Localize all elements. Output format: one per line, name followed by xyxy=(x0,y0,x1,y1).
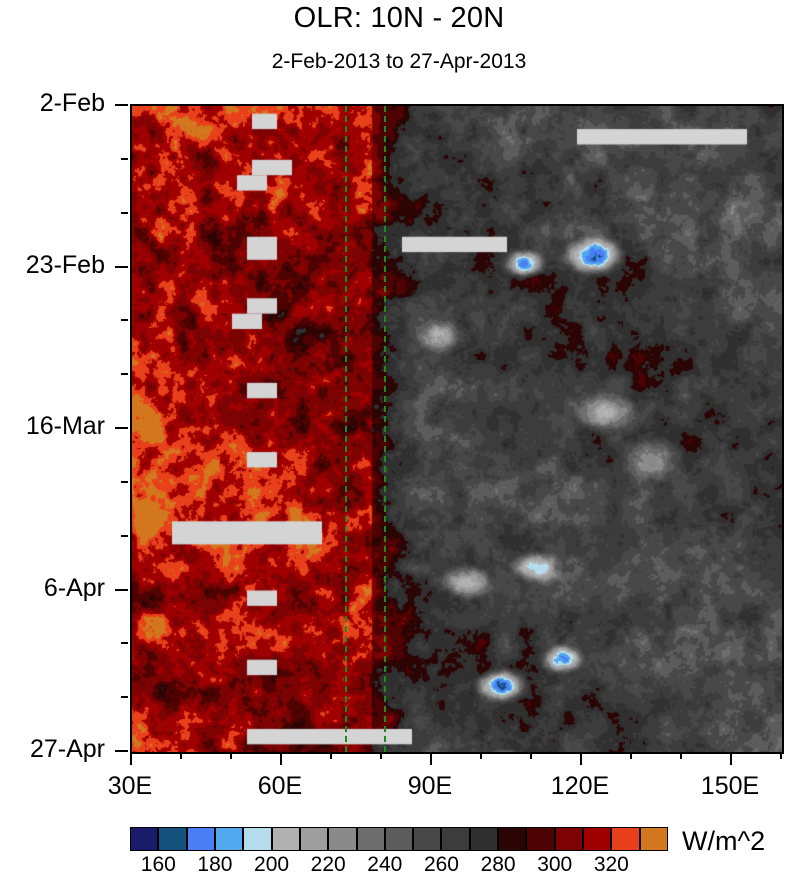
colorbar-swatch xyxy=(215,827,243,851)
y-tick-minor xyxy=(121,481,128,483)
x-tick-major xyxy=(280,752,282,765)
y-tick-minor xyxy=(121,212,128,214)
colorbar-swatch xyxy=(187,827,215,851)
x-axis-tick-label: 90E xyxy=(370,772,490,801)
colorbar-tick-label: 320 xyxy=(571,853,651,877)
colorbar-swatch xyxy=(583,827,611,851)
y-tick-major xyxy=(115,427,128,429)
x-tick-major xyxy=(130,752,132,765)
x-tick-minor xyxy=(780,752,782,759)
y-axis-tick-label: 16-Mar xyxy=(0,412,105,441)
colorbar-swatch xyxy=(328,827,356,851)
colorbar-swatch xyxy=(526,827,554,851)
colorbar-swatch xyxy=(441,827,469,851)
x-axis-tick-label: 120E xyxy=(520,772,640,801)
y-tick-major xyxy=(115,266,128,268)
colorbar-swatch xyxy=(272,827,300,851)
x-tick-major xyxy=(430,752,432,765)
colorbar-swatch xyxy=(130,827,158,851)
colorbar-swatch xyxy=(498,827,526,851)
vertical-dashed-annotation-line xyxy=(345,106,347,752)
x-tick-minor xyxy=(680,752,682,759)
x-tick-minor xyxy=(630,752,632,759)
colorbar-swatch xyxy=(385,827,413,851)
y-tick-major xyxy=(115,104,128,106)
y-tick-major xyxy=(115,589,128,591)
colorbar-swatch xyxy=(555,827,583,851)
colorbar-swatch xyxy=(357,827,385,851)
colorbar-units-label: W/m^2 xyxy=(682,826,765,857)
y-axis-tick-label: 2-Feb xyxy=(0,89,105,118)
plot-area xyxy=(130,104,784,754)
y-tick-minor xyxy=(121,696,128,698)
x-tick-minor xyxy=(480,752,482,759)
x-tick-minor xyxy=(380,752,382,759)
x-axis-tick-label: 150E xyxy=(670,772,790,801)
colorbar-swatch xyxy=(640,827,668,851)
page-title: OLR: 10N - 20N xyxy=(0,2,798,35)
y-tick-minor xyxy=(121,535,128,537)
vertical-dashed-annotation-line xyxy=(384,106,386,752)
y-axis-tick-label: 23-Feb xyxy=(0,251,105,280)
subtitle: 2-Feb-2013 to 27-Apr-2013 xyxy=(0,50,798,74)
olr-heatmap-canvas xyxy=(132,106,782,752)
y-tick-minor xyxy=(121,373,128,375)
x-tick-major xyxy=(580,752,582,765)
y-axis-tick-label: 27-Apr xyxy=(0,735,105,764)
x-tick-minor xyxy=(530,752,532,759)
colorbar-swatch xyxy=(413,827,441,851)
colorbar-swatch xyxy=(470,827,498,851)
colorbar-swatch xyxy=(611,827,639,851)
y-tick-minor xyxy=(121,158,128,160)
colorbar-swatch xyxy=(243,827,271,851)
x-tick-minor xyxy=(180,752,182,759)
x-tick-minor xyxy=(330,752,332,759)
y-tick-major xyxy=(115,750,128,752)
colorbar-swatch xyxy=(300,827,328,851)
y-tick-minor xyxy=(121,642,128,644)
colorbar: 160180200220240260280300320 xyxy=(130,827,668,851)
x-tick-minor xyxy=(230,752,232,759)
x-axis-tick-label: 60E xyxy=(220,772,340,801)
hovmoller-figure: OLR: 10N - 20N 2-Feb-2013 to 27-Apr-2013… xyxy=(0,0,798,869)
y-tick-minor xyxy=(121,319,128,321)
colorbar-swatch xyxy=(158,827,186,851)
y-axis-tick-label: 6-Apr xyxy=(0,574,105,603)
x-axis-tick-label: 30E xyxy=(70,772,190,801)
x-tick-major xyxy=(730,752,732,765)
